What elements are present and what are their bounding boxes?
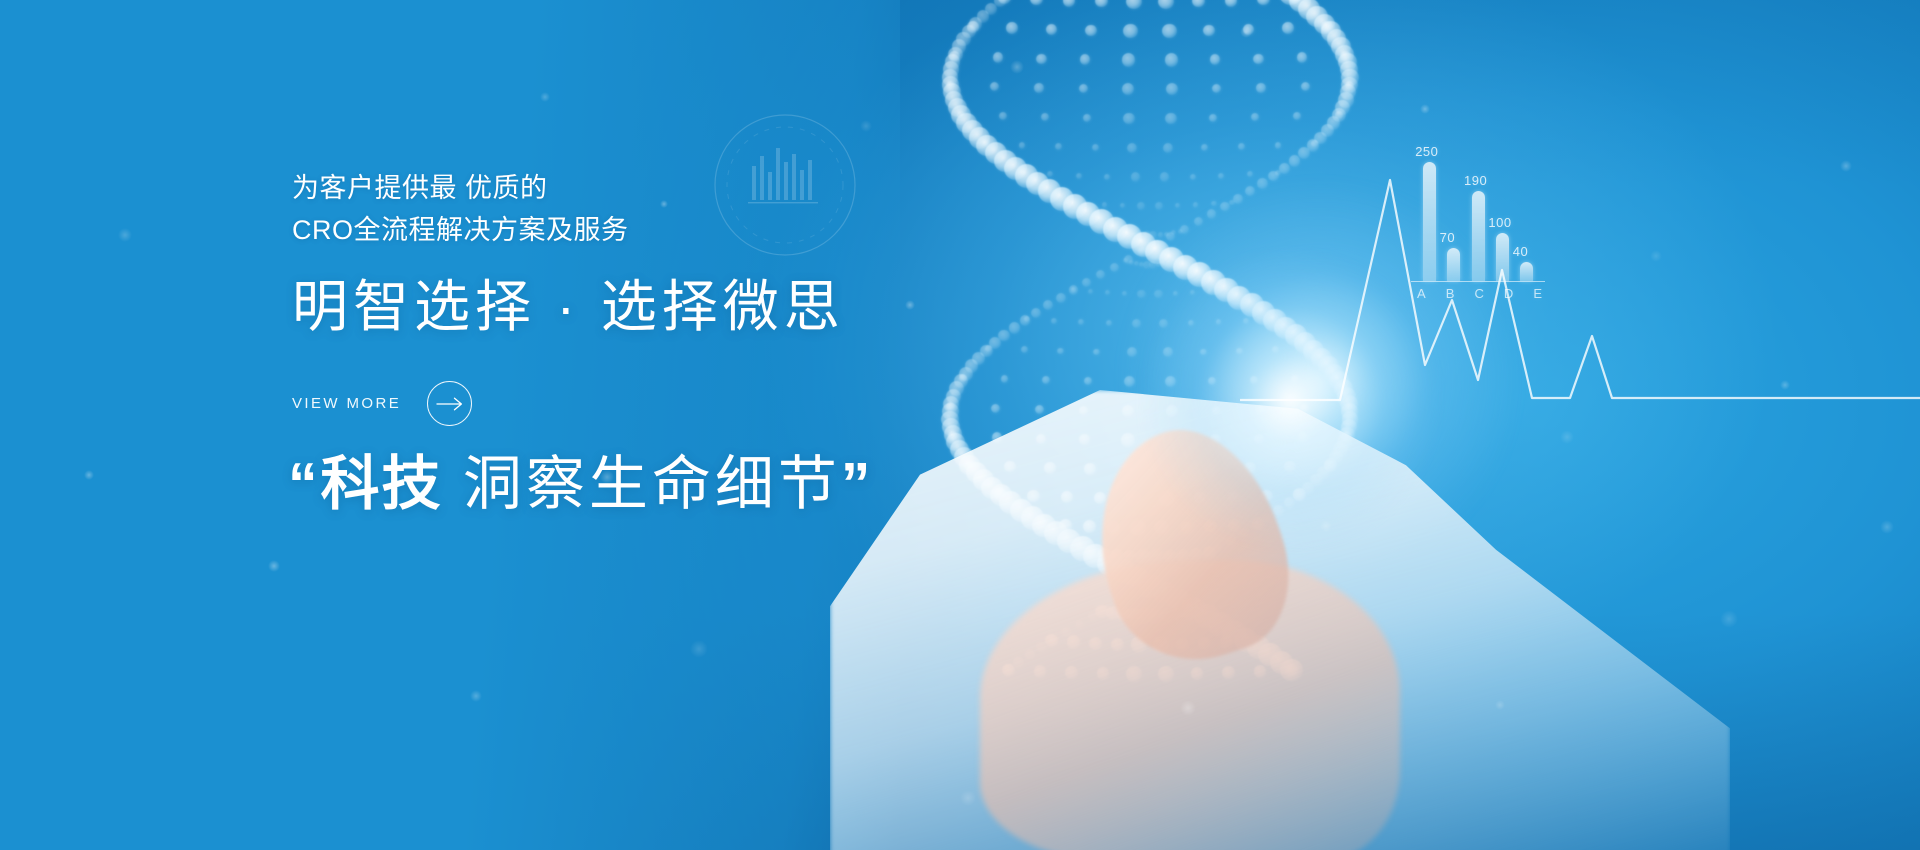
bar-category-label: B: [1446, 286, 1456, 301]
quote-strong-text: 科技: [321, 451, 443, 517]
bar-chart-plot: 2507019010040: [1417, 156, 1539, 281]
ecg-waveform-icon: [1240, 150, 1920, 460]
bar-column: [1520, 156, 1533, 281]
bokeh-dot: [1650, 250, 1662, 262]
view-more-button[interactable]: VIEW MORE: [292, 381, 472, 426]
bokeh-dot: [1010, 60, 1024, 74]
bokeh-dot: [1720, 610, 1738, 628]
subtitle-line-2: CRO全流程解决方案及服务: [292, 210, 629, 252]
bokeh-dot: [1840, 160, 1852, 172]
arrow-right-icon[interactable]: [427, 381, 472, 426]
bokeh-dot: [84, 470, 94, 480]
bokeh-dot: [1320, 520, 1332, 532]
bar-column: [1423, 156, 1436, 281]
bokeh-dot: [1420, 104, 1430, 114]
bokeh-dot: [1560, 430, 1574, 444]
bar-category-label: D: [1504, 286, 1514, 301]
subtitle-line-1: 为客户提供最 优质的: [292, 168, 629, 210]
bokeh-dot: [1780, 380, 1790, 390]
bokeh-dot: [268, 560, 280, 572]
bokeh-dot: [1495, 700, 1505, 710]
bokeh-dot: [1880, 520, 1894, 534]
hero-quote: “科技 洞察生命细节”: [288, 452, 873, 517]
view-more-label: VIEW MORE: [292, 395, 401, 412]
bar: [1496, 233, 1509, 281]
hero-subtitle: 为客户提供最 优质的 CRO全流程解决方案及服务: [292, 168, 629, 252]
bar-column: [1496, 156, 1509, 281]
hero-banner: 2507019010040 ABCDE 为客户提供最 优质的 CRO全流程解决方…: [0, 0, 1920, 850]
bar-chart-axis: [1411, 281, 1545, 282]
bokeh-dot: [118, 228, 132, 242]
bokeh-dot: [1240, 26, 1252, 38]
bar-category-label: A: [1417, 286, 1427, 301]
bar-chart-overlay: 2507019010040 ABCDE: [1405, 148, 1550, 320]
quote-close-mark: ”: [841, 451, 874, 517]
quote-open-mark: “: [288, 451, 321, 517]
quote-light-text: 洞察生命细节: [443, 451, 841, 517]
bar: [1447, 248, 1460, 281]
bar-category-label: E: [1533, 286, 1543, 301]
bar-column: [1447, 156, 1460, 281]
bar: [1423, 162, 1436, 281]
bokeh-dot: [1180, 700, 1196, 716]
bar: [1520, 262, 1533, 281]
bar-column: [1472, 156, 1485, 281]
bar-chart-category-labels: ABCDE: [1417, 286, 1543, 301]
hero-content: 为客户提供最 优质的 CRO全流程解决方案及服务 明智选择 · 选择微思 VIE…: [292, 0, 1012, 850]
bar: [1472, 191, 1485, 281]
bar-category-label: C: [1474, 286, 1484, 301]
hero-headline: 明智选择 · 选择微思: [292, 274, 845, 340]
